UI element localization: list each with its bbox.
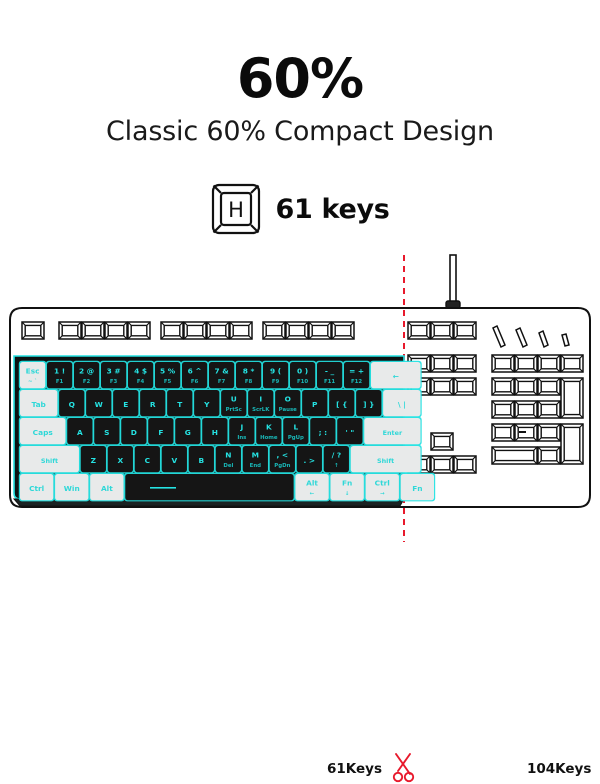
key-label: 6 ^ xyxy=(188,367,202,376)
key-z[interactable]: Z xyxy=(80,445,108,474)
key-label: D xyxy=(131,428,137,437)
key-sublabel: F12 xyxy=(351,379,362,385)
key-label: Shift xyxy=(377,457,394,465)
key-label: Tab xyxy=(31,400,45,409)
key-label: 3 # xyxy=(107,367,121,376)
key-sublabel: Pause xyxy=(279,407,297,413)
key-sublabel: F9 xyxy=(272,379,280,385)
key-sublabel: F6 xyxy=(191,379,199,385)
key-sublabel: F10 xyxy=(297,379,308,385)
key-sublabel: F1 xyxy=(56,379,64,385)
key-sublabel: F3 xyxy=(110,379,118,385)
key-label: F xyxy=(158,428,163,437)
key-[interactable]: = +F12 xyxy=(343,361,371,390)
key-y[interactable]: Y xyxy=(193,389,221,418)
page-title: 60% xyxy=(0,52,600,106)
key-sublabel: PrtSc xyxy=(226,407,242,413)
key-label: S xyxy=(104,428,109,437)
key-ctrl[interactable]: Ctrl→ xyxy=(364,473,400,502)
key-s[interactable]: S xyxy=(93,417,121,446)
key-alt[interactable]: Alt xyxy=(89,473,125,502)
key-label: Alt xyxy=(101,484,113,493)
key-esc[interactable]: Esc~ ` xyxy=(19,361,47,390)
key-label: Caps xyxy=(33,428,54,437)
key-label: - _ xyxy=(325,367,335,376)
key-label: V xyxy=(171,456,177,465)
key-label: ← xyxy=(393,372,399,381)
key-k[interactable]: KHome xyxy=(255,417,283,446)
key-sublabel: F11 xyxy=(324,379,335,385)
key-label: Shift xyxy=(41,457,58,465)
key-label: W xyxy=(95,400,103,409)
key-d[interactable]: D xyxy=(120,417,148,446)
key-label: / ? xyxy=(332,451,342,460)
caption-104-keys: 104Keys xyxy=(527,761,591,777)
key-sublabel: F4 xyxy=(137,379,145,385)
key-label: P xyxy=(312,400,318,409)
key-f[interactable]: F xyxy=(147,417,175,446)
key-label: J xyxy=(239,423,243,432)
caption-61-keys: 61Keys xyxy=(327,761,382,777)
key-label: C xyxy=(145,456,150,465)
key-ctrl[interactable]: Ctrl xyxy=(19,473,55,502)
key-h[interactable]: H xyxy=(201,417,229,446)
key-e[interactable]: E xyxy=(112,389,140,418)
key-label: \ | xyxy=(398,400,406,410)
scissors-icon xyxy=(389,750,419,784)
key-label: M xyxy=(252,451,259,460)
key-label: 7 & xyxy=(215,367,230,376)
key-sublabel: PgUp xyxy=(288,435,304,441)
key-label: 9 ( xyxy=(270,367,281,376)
keycap-icon-glyph: H xyxy=(229,198,245,222)
key-tab[interactable]: Tab xyxy=(19,389,59,418)
key-label: O xyxy=(285,395,291,404)
key-8[interactable]: 8 *F8 xyxy=(235,361,263,390)
key-label: [ { xyxy=(336,400,347,409)
key-9[interactable]: 9 (F9 xyxy=(262,361,290,390)
key-7[interactable]: 7 &F7 xyxy=(208,361,236,390)
key-label: K xyxy=(266,423,272,432)
key-m[interactable]: MEnd xyxy=(242,445,270,474)
key-space[interactable] xyxy=(124,473,295,502)
key-sublabel: ↑ xyxy=(334,463,339,469)
compact-row-tab-row: TabQWERTYUPrtScIScrLKOPauseP[ {] }\ | xyxy=(19,389,422,418)
key-label: Fn xyxy=(342,479,352,488)
key-0[interactable]: 0 )F10 xyxy=(289,361,317,390)
key-shift[interactable]: Shift xyxy=(19,445,80,474)
key-label: B xyxy=(199,456,205,465)
key-label: Esc xyxy=(26,367,40,376)
page-subtitle: Classic 60% Compact Design xyxy=(0,116,600,147)
key-enter[interactable]: Enter xyxy=(363,417,422,446)
key-[interactable]: ] } xyxy=(355,389,383,418)
key-[interactable]: [ { xyxy=(328,389,356,418)
key-label: 0 ) xyxy=(297,367,308,376)
key-label: Z xyxy=(91,456,97,465)
key-j[interactable]: JIns xyxy=(228,417,256,446)
key-[interactable]: , <PgDn xyxy=(269,445,297,474)
compact-row-caps-row: CapsASDFGHJInsKHomeLPgUp; :' "Enter xyxy=(19,417,422,446)
key-sublabel: F5 xyxy=(164,379,172,385)
key-x[interactable]: X xyxy=(107,445,135,474)
key-5[interactable]: 5 %F5 xyxy=(154,361,182,390)
key-label: . > xyxy=(304,456,316,465)
key-[interactable]: . > xyxy=(296,445,324,474)
key-c[interactable]: C xyxy=(134,445,162,474)
key-3[interactable]: 3 #F3 xyxy=(100,361,128,390)
key-[interactable]: / ?↑ xyxy=(323,445,351,474)
key-sublabel: End xyxy=(250,463,262,469)
key-l[interactable]: LPgUp xyxy=(282,417,310,446)
key-label: 2 @ xyxy=(79,367,94,376)
key-label: I xyxy=(259,395,262,404)
key-label: Ctrl xyxy=(375,479,390,488)
key-sublabel: ScrLK xyxy=(252,407,270,413)
key-p[interactable]: P xyxy=(301,389,329,418)
key-label: Enter xyxy=(383,429,403,437)
key-n[interactable]: NDel xyxy=(215,445,243,474)
key-sublabel: ~ ` xyxy=(28,379,37,385)
key-label: Q xyxy=(69,400,75,409)
key-[interactable]: ← xyxy=(370,361,422,390)
key-shift[interactable]: Shift xyxy=(350,445,422,474)
key-label: R xyxy=(150,400,156,409)
key-fn[interactable]: Fn↓ xyxy=(329,473,365,502)
key-g[interactable]: G xyxy=(174,417,202,446)
key-sublabel: → xyxy=(380,491,385,497)
key-6[interactable]: 6 ^F6 xyxy=(181,361,209,390)
keycount-label: 61 keys xyxy=(275,194,389,225)
key-sublabel: Ins xyxy=(237,435,246,441)
key-sublabel: F2 xyxy=(83,379,91,385)
key-u[interactable]: UPrtSc xyxy=(220,389,248,418)
key-win[interactable]: Win xyxy=(54,473,90,502)
keyboard-illustration: Esc~ `1 !F12 @F23 #F34 $F45 %F56 ^F67 &F… xyxy=(0,250,600,550)
key-label: 8 * xyxy=(243,367,255,376)
key-sublabel: F7 xyxy=(218,379,226,385)
keycap-icon: H xyxy=(210,182,262,236)
key-label: L xyxy=(293,423,298,432)
key-w[interactable]: W xyxy=(85,389,113,418)
key-sublabel: Del xyxy=(223,463,233,469)
key-v[interactable]: V xyxy=(161,445,189,474)
key-b[interactable]: B xyxy=(188,445,216,474)
key-label: U xyxy=(231,395,237,404)
compact-row-shift-row: ShiftZXCVBNDelMEnd, <PgDn. >/ ?↑Shift xyxy=(19,445,422,474)
key-caps[interactable]: Caps xyxy=(19,417,67,446)
key-2[interactable]: 2 @F2 xyxy=(73,361,101,390)
key-sublabel: F8 xyxy=(245,379,253,385)
key-sublabel: ↓ xyxy=(345,491,350,497)
compact-row-number-row: Esc~ `1 !F12 @F23 #F34 $F45 %F56 ^F67 &F… xyxy=(19,361,422,390)
key-label: G xyxy=(185,428,191,437)
key-1[interactable]: 1 !F1 xyxy=(46,361,74,390)
key-label: N xyxy=(225,451,231,460)
compact-keyboard-overlay: Esc~ `1 !F12 @F23 #F34 $F45 %F56 ^F67 &F… xyxy=(0,250,600,550)
key-label: A xyxy=(77,428,83,437)
key-sublabel: Home xyxy=(260,435,278,441)
key-[interactable]: ; : xyxy=(309,417,337,446)
key-label: = + xyxy=(349,367,364,376)
key-label: Ctrl xyxy=(29,484,44,493)
key-alt[interactable]: Alt← xyxy=(294,473,330,502)
key-sublabel: PgDn xyxy=(274,463,290,469)
keycount-block: H 61 keys xyxy=(0,182,600,236)
key-label: 1 ! xyxy=(54,367,65,376)
key-o[interactable]: OPause xyxy=(274,389,302,418)
key-[interactable]: \ | xyxy=(382,389,422,418)
key-[interactable]: ' " xyxy=(336,417,364,446)
key-label: ] } xyxy=(363,400,374,409)
key-label: Y xyxy=(203,400,210,409)
key-4[interactable]: 4 $F4 xyxy=(127,361,155,390)
key-label: 5 % xyxy=(160,367,176,376)
key-a[interactable]: A xyxy=(66,417,94,446)
key-label: Win xyxy=(64,484,80,493)
key-label: X xyxy=(117,456,123,465)
key-t[interactable]: T xyxy=(166,389,194,418)
compact-row-bottom-row: CtrlWinAltAlt←Fn↓Ctrl→Fn xyxy=(19,473,435,502)
key-q[interactable]: Q xyxy=(58,389,86,418)
key-label: 4 $ xyxy=(134,367,147,376)
key-label: ; : xyxy=(319,428,328,437)
key-label: , < xyxy=(277,451,289,460)
key-label: ' " xyxy=(346,428,355,437)
headline-block: 60% Classic 60% Compact Design xyxy=(0,52,600,147)
key-i[interactable]: IScrLK xyxy=(247,389,275,418)
key-fn[interactable]: Fn xyxy=(400,473,436,502)
key-label: Fn xyxy=(412,484,422,493)
key-[interactable]: - _F11 xyxy=(316,361,344,390)
spacebar-accent xyxy=(150,487,176,489)
key-label: E xyxy=(123,400,128,409)
key-label: T xyxy=(177,400,182,409)
key-label: H xyxy=(212,428,218,437)
key-label: Alt xyxy=(306,479,318,488)
key-sublabel: ← xyxy=(310,491,315,497)
key-r[interactable]: R xyxy=(139,389,167,418)
